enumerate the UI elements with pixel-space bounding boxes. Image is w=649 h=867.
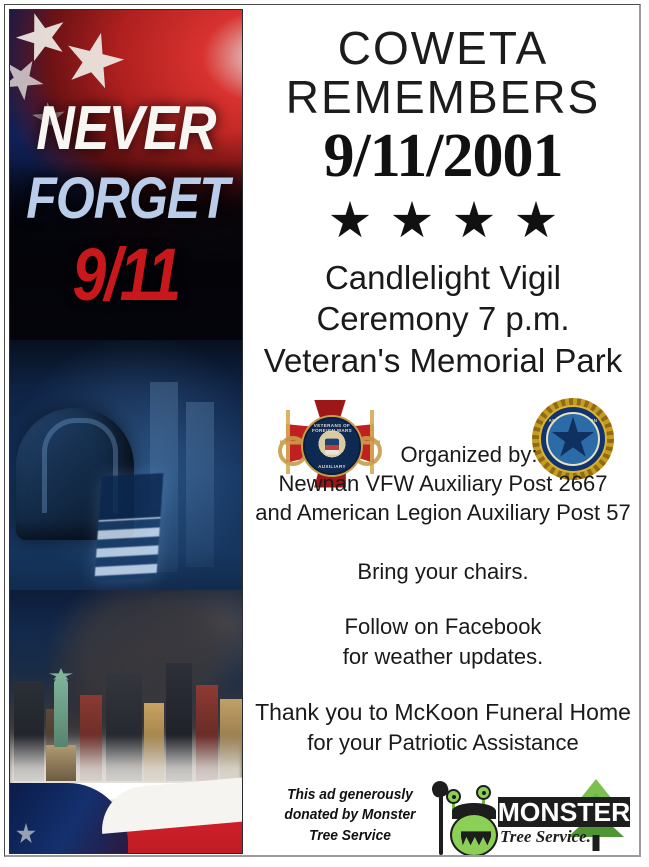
event-line-ceremony: Ceremony 7 p.m. xyxy=(248,298,638,340)
vfw-emblem-top-text: VETERANS OF FOREIGN WARS xyxy=(305,423,359,433)
monster-tree-service-logo: MONSTER Tree Service. xyxy=(430,775,636,857)
note-facebook-line1: Follow on Facebook xyxy=(248,612,638,641)
sponsor-credit-text: This ad generously donated by Monster Tr… xyxy=(276,785,423,845)
flag-star-icon xyxy=(10,9,75,69)
note-bring-chairs: Bring your chairs. xyxy=(248,557,638,586)
bottom-flag-sweep-graphic xyxy=(10,783,242,853)
headline-remembers: REMEMBERS xyxy=(248,74,638,121)
monster-body xyxy=(450,813,498,857)
note-thanks-line1: Thank you to McKoon Funeral Home xyxy=(248,697,638,728)
headline-date: 9/11/2001 xyxy=(248,125,638,187)
monster-wordmark-text: MONSTER xyxy=(497,797,632,827)
star-icon xyxy=(392,201,432,241)
ad-content-column: COWETA REMEMBERS 9/11/2001 Candlelight V… xyxy=(248,9,638,854)
small-american-flag-graphic xyxy=(94,473,163,581)
tower-silhouette xyxy=(186,402,214,567)
note-thanks-line2: for your Patriotic Assistance xyxy=(248,728,638,757)
monster-wordmark: MONSTER xyxy=(498,797,630,827)
headline-coweta: COWETA xyxy=(248,25,638,72)
statue-of-liberty-base xyxy=(46,745,76,781)
sponsor-credit-line-1: This ad generously xyxy=(276,785,423,805)
flag-white-stripe xyxy=(98,776,243,834)
sponsor-credit-line-3: Tree Service xyxy=(276,826,423,846)
flag-star-icon xyxy=(58,26,130,97)
note-facebook-line2: for weather updates. xyxy=(248,642,638,671)
statue-of-liberty-icon xyxy=(54,677,68,747)
organizer-block: Organized by: Newnan VFW Auxiliary Post … xyxy=(248,440,638,527)
saw-bar xyxy=(439,789,443,855)
event-line-location: Veteran's Memorial Park xyxy=(248,340,638,382)
star-divider xyxy=(248,201,638,241)
organizer-line-3: and American Legion Auxiliary Post 57 xyxy=(248,498,638,527)
poster-line-911: 9/11 xyxy=(31,238,221,312)
poster-line-forget: FORGET xyxy=(26,170,226,228)
star-icon xyxy=(330,201,370,241)
monster-eye-icon xyxy=(446,789,461,804)
event-line-vigil: Candlelight Vigil xyxy=(248,257,638,299)
never-forget-poster-image: NEVER FORGET 9/11 xyxy=(9,9,243,854)
poster-line-never: NEVER xyxy=(26,98,226,160)
sponsor-credit-line-2: donated by Monster xyxy=(276,805,423,825)
sponsor-footer: This ad generously donated by Monster Tr… xyxy=(248,779,638,857)
organizer-line-1: Organized by: xyxy=(248,440,638,469)
star-icon xyxy=(454,201,494,241)
advertisement-frame: NEVER FORGET 9/11 COWETA REMEMBERS 9/11/… xyxy=(4,4,641,857)
monster-eye-icon xyxy=(476,785,491,800)
star-icon xyxy=(516,201,556,241)
organizer-line-2: Newnan VFW Auxiliary Post 2667 xyxy=(248,469,638,498)
monster-tagline: Tree Service. xyxy=(500,827,632,847)
